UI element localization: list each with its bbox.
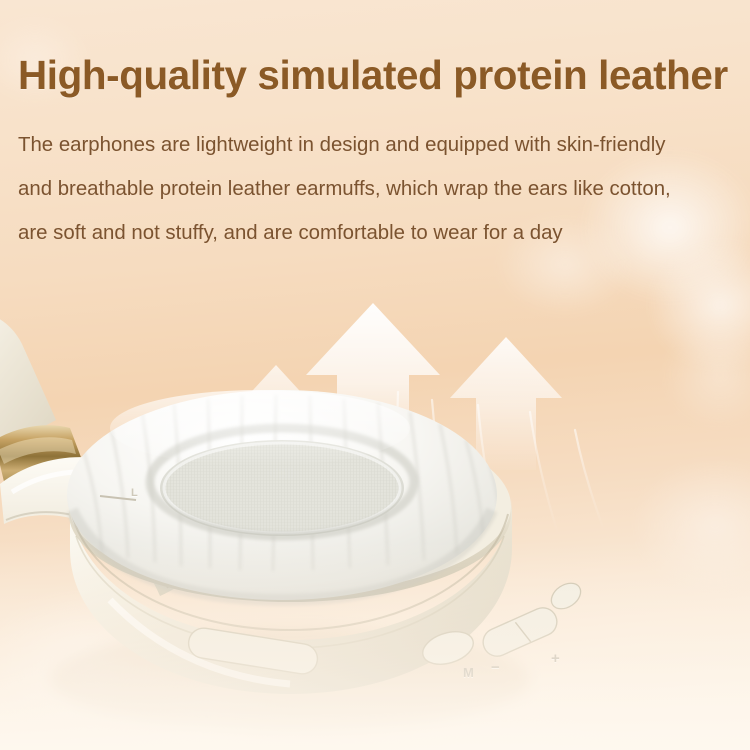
description-paragraph: The earphones are lightweight in design … <box>18 97 732 255</box>
description-line: are soft and not stuffy, and are comfort… <box>18 211 728 255</box>
description-line: The earphones are lightweight in design … <box>18 123 728 167</box>
product-feature-poster: M − + L High-quality simulated protein l… <box>0 0 750 750</box>
headphone-vector <box>0 300 720 750</box>
earmuff-cushion <box>54 390 503 600</box>
volume-rocker-button[interactable] <box>479 603 562 660</box>
power-button[interactable] <box>547 578 586 614</box>
page-title: High-quality simulated protein leather <box>18 0 721 97</box>
description-line: and breathable protein leather earmuffs,… <box>18 167 728 211</box>
copy-block: High-quality simulated protein leather T… <box>0 0 750 255</box>
